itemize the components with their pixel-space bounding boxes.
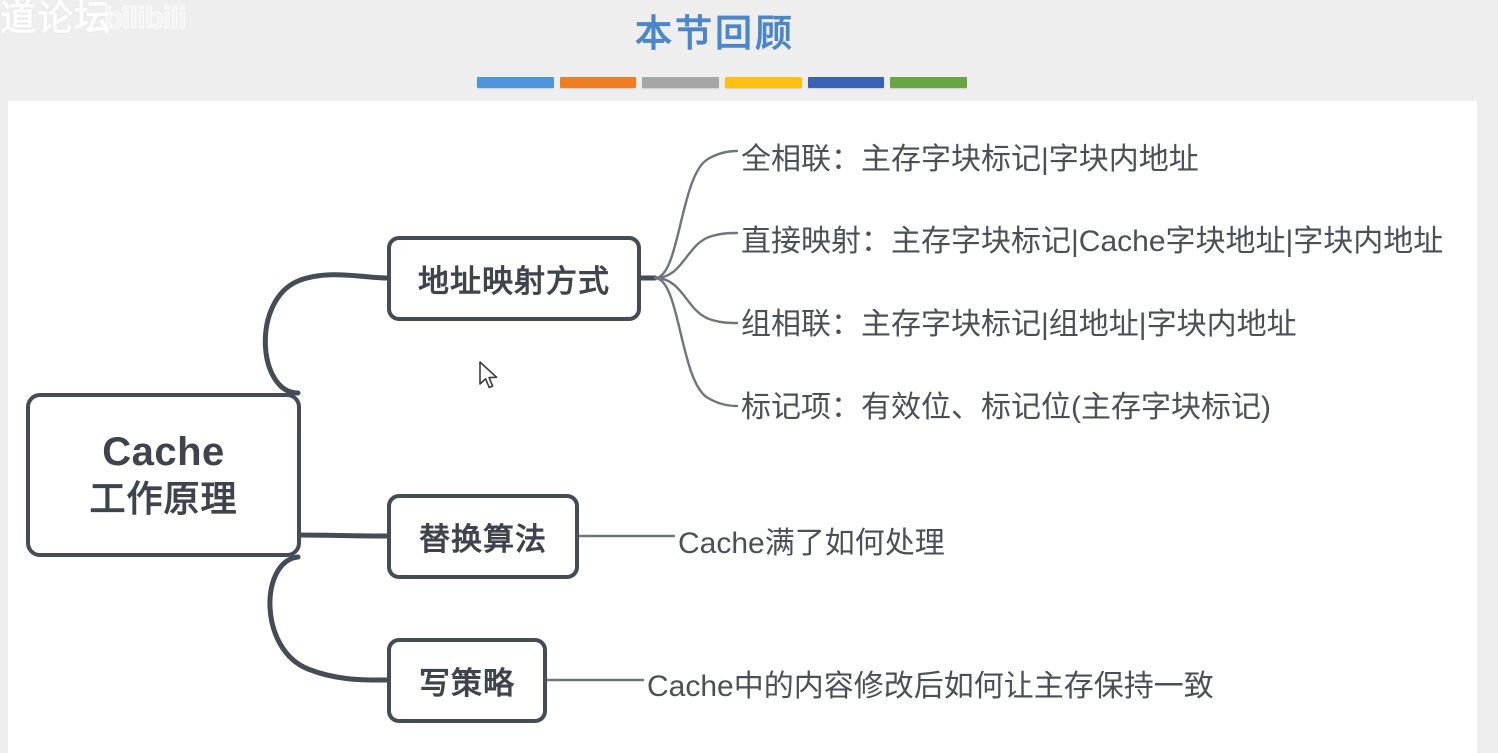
root-label-line1: Cache <box>102 429 225 476</box>
mindmap-leaf-set-associative[interactable]: 组相联：主存字块标记|组地址|字块内地址 <box>741 299 1297 343</box>
accent-bar-green <box>890 77 967 88</box>
mindmap-leaf-cache-full-handling[interactable]: Cache满了如何处理 <box>678 518 945 562</box>
mindmap-canvas[interactable]: Cache 工作原理 地址映射方式 替换算法 写策略 全相联：主存字块标记|字块… <box>8 101 1477 753</box>
accent-bar-blue <box>477 77 554 88</box>
mindmap-root-node[interactable]: Cache 工作原理 <box>26 393 301 557</box>
accent-bar-dark-blue <box>808 77 885 88</box>
root-label-line2: 工作原理 <box>89 478 237 520</box>
accent-bar-yellow <box>725 77 802 88</box>
mindmap-branch-write-policy[interactable]: 写策略 <box>387 638 547 723</box>
accent-bar-gray <box>642 77 719 88</box>
title-accent-bars <box>477 77 967 89</box>
mindmap-leaf-write-consistency[interactable]: Cache中的内容修改后如何让主存保持一致 <box>647 661 1214 705</box>
slide-stage: 道论坛 bilibili 本节回顾 <box>0 0 1498 753</box>
mindmap-leaf-tag-fields[interactable]: 标记项：有效位、标记位(主存字块标记) <box>741 382 1271 426</box>
mindmap-branch-address-mapping[interactable]: 地址映射方式 <box>387 236 641 321</box>
mindmap-branch-replacement-algorithm[interactable]: 替换算法 <box>387 494 579 579</box>
mindmap-leaf-direct-mapping[interactable]: 直接映射：主存字块标记|Cache字块地址|字块内地址 <box>741 216 1443 260</box>
mindmap-leaf-full-associative[interactable]: 全相联：主存字块标记|字块内地址 <box>741 134 1199 178</box>
accent-bar-orange <box>560 77 637 88</box>
page-title: 本节回顾 <box>0 10 1430 58</box>
